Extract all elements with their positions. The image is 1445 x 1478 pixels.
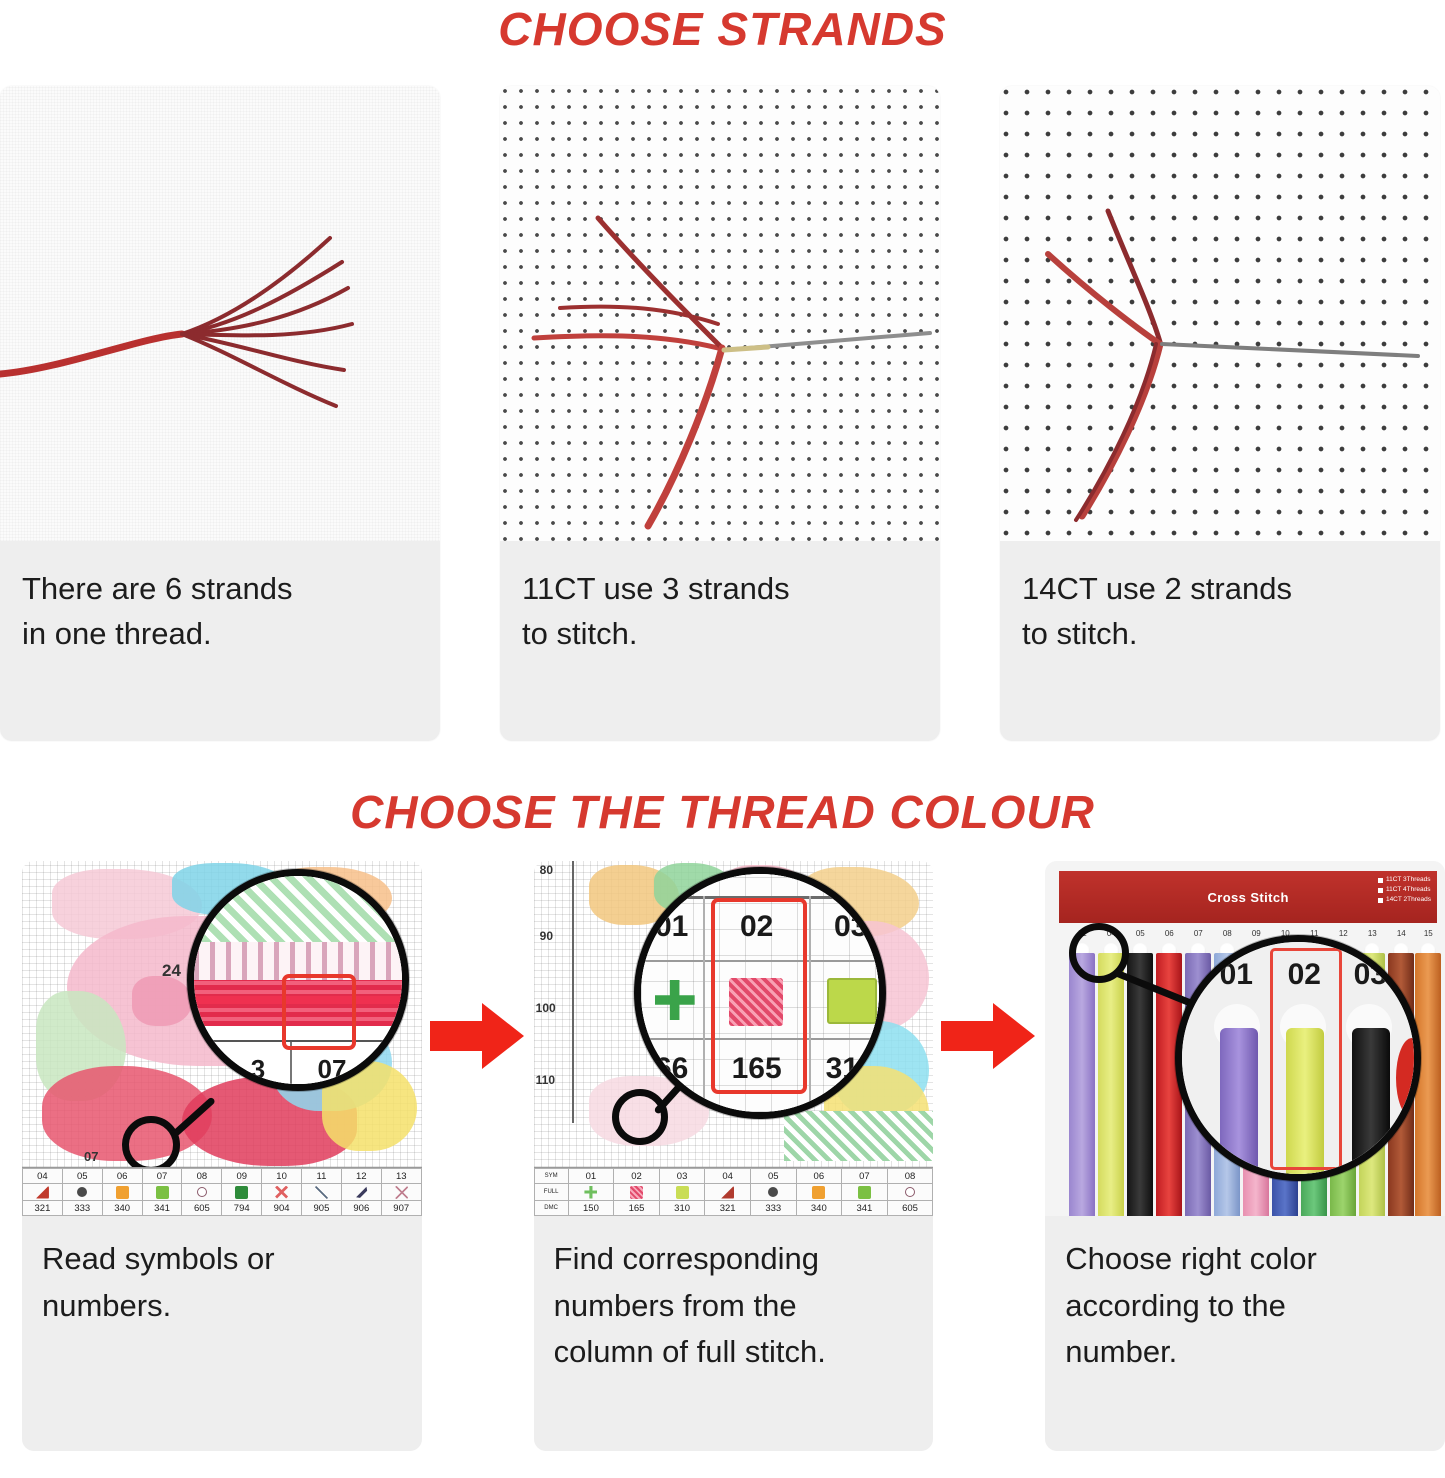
- organizer-thread-options: 11CT 3Threads 11CT 4Threads 14CT 2Thread…: [1378, 875, 1431, 905]
- zoom-column-number: 01: [641, 910, 703, 944]
- legend-code: 321: [23, 1201, 63, 1216]
- arrow-card1-to-card2: [422, 861, 534, 1451]
- legend-symbol-cell: [102, 1184, 142, 1201]
- legend-code: 340: [102, 1201, 142, 1216]
- caption-line: 14CT use 2 strands: [1022, 567, 1418, 612]
- symbol-arc-pink: [395, 1186, 408, 1199]
- legend-code-row: DMC 150 165 310 321 333 340 341 605: [534, 1201, 933, 1216]
- checkbox-icon[interactable]: [1378, 878, 1383, 883]
- organizer-title: Cross Stitch: [1207, 890, 1288, 905]
- legend-code: 906: [341, 1201, 381, 1216]
- legend-header-row: SYM 01 02 03 04 05 06 07 08: [534, 1169, 933, 1184]
- card-choose-colour: Cross Stitch 11CT 3Threads 11CT 4Threads…: [1045, 861, 1445, 1451]
- legend-symbol-cell: [842, 1184, 888, 1201]
- legend-code: 341: [842, 1201, 888, 1216]
- legend-col-number: 13: [381, 1169, 421, 1184]
- legend-code: 905: [302, 1201, 342, 1216]
- legend-symbol-cell: [796, 1184, 842, 1201]
- skein-number: 06: [1158, 929, 1180, 938]
- caption-line: numbers from the: [554, 1283, 914, 1330]
- zoom-thread-number: 01: [1204, 958, 1268, 992]
- skein-number: 14: [1390, 929, 1412, 938]
- legend-col-number: 10: [262, 1169, 302, 1184]
- zoom-thread-number: 03: [1338, 958, 1402, 992]
- two-strand-needle-illustration: [1000, 86, 1440, 541]
- symbol-dot-dark: [77, 1187, 87, 1197]
- skein-number: 09: [1245, 929, 1267, 938]
- symbol-legend-table-2: SYM 01 02 03 04 05 06 07 08 FULL: [534, 1167, 934, 1216]
- right-arrow-icon: [941, 1001, 1037, 1071]
- row-label: 110: [536, 1073, 555, 1087]
- legend-col-number: 03: [659, 1169, 705, 1184]
- colour-card-row: 24 07 3: [0, 861, 1445, 1451]
- legend-col-number: 07: [142, 1169, 182, 1184]
- symbol-leaf-dark: [355, 1186, 368, 1199]
- legend-code: 794: [222, 1201, 262, 1216]
- legend-symbol-cell: [381, 1184, 421, 1201]
- legend-col-number: 11: [302, 1169, 342, 1184]
- organizer-option-label: 11CT 3Threads: [1386, 875, 1431, 885]
- legend-code: 150: [568, 1201, 614, 1216]
- zoom-code-number: 310: [811, 1052, 886, 1086]
- card-14ct-two-strands: 14CT use 2 strands to stitch.: [1000, 86, 1440, 741]
- organizer-option-label: 14CT 2Threads: [1386, 895, 1431, 905]
- thread-skein: [1098, 953, 1124, 1216]
- page-title-choose-strands: CHOOSE STRANDS: [0, 0, 1445, 52]
- skein-number: 07: [1187, 929, 1209, 938]
- page-title-choose-thread-colour: CHOOSE THE THREAD COLOUR: [0, 779, 1445, 835]
- zoom-thread-skein: [1352, 1028, 1390, 1181]
- photo-11ct-aida-needle: [500, 86, 940, 541]
- right-arrow-icon: [430, 1001, 526, 1071]
- caption-line: Read symbols or: [42, 1236, 402, 1283]
- zoom-cell-number: 07: [302, 1054, 362, 1085]
- legend-col-number: 01: [568, 1169, 614, 1184]
- legend-col-number: 08: [887, 1169, 933, 1184]
- organizer-option-label: 11CT 4Threads: [1386, 885, 1431, 895]
- zoom-stitch-green: [194, 876, 402, 952]
- legend-row-title: SYM: [534, 1169, 568, 1184]
- magnifier-circle-symbols: 3 07: [187, 869, 409, 1091]
- caption-line: to stitch.: [522, 612, 918, 657]
- legend-symbol-cell: [659, 1184, 705, 1201]
- strands-card-row: There are 6 strands in one thread. 11CT …: [0, 86, 1445, 741]
- caption-line: There are 6 strands: [22, 567, 418, 612]
- legend-symbol-cell: [614, 1184, 660, 1201]
- magnifier-circle-threads: 01 02 03: [1175, 935, 1421, 1181]
- zoom-code-number: 66: [641, 1052, 703, 1086]
- checkbox-icon[interactable]: [1378, 898, 1383, 903]
- legend-symbol-cell: [222, 1184, 262, 1201]
- checkbox-icon[interactable]: [1378, 888, 1383, 893]
- legend-code-row: 321 333 340 341 605 794 904 905 906 907: [23, 1201, 422, 1216]
- symbol-square-darkgreen: [235, 1186, 248, 1199]
- caption-line: numbers.: [42, 1283, 402, 1330]
- legend-code: 605: [887, 1201, 933, 1216]
- legend-code: 165: [614, 1201, 660, 1216]
- card-six-strands: There are 6 strands in one thread.: [0, 86, 440, 741]
- legend-symbol-cell: [262, 1184, 302, 1201]
- symbol-square-orange: [116, 1186, 129, 1199]
- skein-number: 05: [1129, 929, 1151, 938]
- skein-number: 13: [1361, 929, 1383, 938]
- symbol-lime-square: [676, 1186, 689, 1199]
- photo-14ct-aida-needle: [1000, 86, 1440, 541]
- infographic-page: CHOOSE STRANDS There are 6 strands in on…: [0, 0, 1445, 1478]
- legend-symbol-cell: [23, 1184, 63, 1201]
- legend-col-number: 09: [222, 1169, 262, 1184]
- symbol-square-green: [858, 1186, 871, 1199]
- symbol-triangle-red: [721, 1186, 734, 1199]
- legend-col-number: 04: [705, 1169, 751, 1184]
- caption-six-strands: There are 6 strands in one thread.: [0, 541, 440, 657]
- legend-symbol-row: FULL: [534, 1184, 933, 1201]
- pattern-hatch: [784, 1111, 934, 1161]
- caption-find-numbers: Find corresponding numbers from the colu…: [534, 1216, 934, 1376]
- legend-col-number: 04: [23, 1169, 63, 1184]
- symbol-circle-open: [197, 1187, 207, 1197]
- caption-11ct: 11CT use 3 strands to stitch.: [500, 541, 940, 657]
- legend-code: 333: [62, 1201, 102, 1216]
- three-strand-needle-illustration: [500, 86, 940, 541]
- zoom-column-number: 03: [811, 910, 886, 944]
- zoom-symbol-lime-square: [827, 978, 877, 1024]
- legend-row-title: DMC: [534, 1201, 568, 1216]
- legend-symbol-cell: [750, 1184, 796, 1201]
- symbol-red-square: [630, 1186, 643, 1199]
- highlight-box: [1270, 948, 1342, 1170]
- caption-line: number.: [1065, 1329, 1425, 1376]
- symbol-square-green: [156, 1186, 169, 1199]
- row-label: 90: [540, 929, 553, 943]
- caption-line: in one thread.: [22, 612, 418, 657]
- thread-organizer-image: Cross Stitch 11CT 3Threads 11CT 4Threads…: [1045, 861, 1445, 1216]
- legend-row-title: FULL: [534, 1184, 568, 1201]
- skein-number: 12: [1332, 929, 1354, 938]
- zoom-thread-skein: [1220, 1028, 1258, 1181]
- legend-code: 321: [705, 1201, 751, 1216]
- pattern-chart-image-2: 80 90 100 110: [534, 861, 934, 1216]
- thread-skein: [1069, 953, 1095, 1216]
- chart-column-label: 07: [84, 1149, 98, 1164]
- legend-col-number: 05: [750, 1169, 796, 1184]
- legend-col-number: 05: [62, 1169, 102, 1184]
- pattern-blob: [132, 976, 192, 1026]
- legend-symbol-cell: [182, 1184, 222, 1201]
- legend-col-number: 06: [102, 1169, 142, 1184]
- legend-symbol-cell: [568, 1184, 614, 1201]
- caption-14ct: 14CT use 2 strands to stitch.: [1000, 541, 1440, 657]
- six-strand-thread-illustration: [0, 86, 440, 541]
- legend-col-number: 12: [341, 1169, 381, 1184]
- symbol-green-cross: [584, 1186, 597, 1199]
- legend-symbol-cell: [62, 1184, 102, 1201]
- legend-col-number: 08: [182, 1169, 222, 1184]
- legend-code: 340: [796, 1201, 842, 1216]
- legend-code: 904: [262, 1201, 302, 1216]
- symbol-dot-dark: [768, 1187, 778, 1197]
- legend-col-number: 02: [614, 1169, 660, 1184]
- organizer-option[interactable]: 14CT 2Threads: [1378, 895, 1431, 905]
- symbol-slash-line: [315, 1186, 328, 1199]
- caption-line: Find corresponding: [554, 1236, 914, 1283]
- legend-symbol-row: [23, 1184, 422, 1201]
- symbol-triangle-red: [36, 1186, 49, 1199]
- organizer-option[interactable]: 11CT 4Threads: [1378, 885, 1431, 895]
- arrow-card2-to-card3: [933, 861, 1045, 1451]
- legend-code: 310: [659, 1201, 705, 1216]
- legend-symbol-cell: [142, 1184, 182, 1201]
- caption-choose-colour: Choose right color according to the numb…: [1045, 1216, 1445, 1376]
- caption-line: according to the: [1065, 1283, 1425, 1330]
- thread-skein: [1415, 953, 1441, 1216]
- caption-line: 11CT use 3 strands: [522, 567, 918, 612]
- legend-symbol-cell: [887, 1184, 933, 1201]
- magnifier-focus-ring: [122, 1116, 180, 1174]
- caption-read-symbols: Read symbols or numbers.: [22, 1216, 422, 1329]
- zoom-cell-number: 3: [234, 1054, 282, 1085]
- legend-code: 341: [142, 1201, 182, 1216]
- skein-number: 08: [1216, 929, 1238, 938]
- card-11ct-three-strands: 11CT use 3 strands to stitch.: [500, 86, 940, 741]
- caption-line: Choose right color: [1065, 1236, 1425, 1283]
- row-label: 100: [536, 1001, 556, 1015]
- thread-skein: [1127, 953, 1153, 1216]
- symbol-square-orange: [812, 1186, 825, 1199]
- legend-symbol-cell: [705, 1184, 751, 1201]
- legend-code: 605: [182, 1201, 222, 1216]
- chart-axis-line: [572, 861, 574, 1123]
- row-label: 80: [540, 863, 553, 877]
- caption-line: column of full stitch.: [554, 1329, 914, 1376]
- legend-code: 333: [750, 1201, 796, 1216]
- caption-line: to stitch.: [1022, 612, 1418, 657]
- pattern-chart-image-1: 24 07 3: [22, 861, 422, 1216]
- magnifier-circle-numbers: 01 02 03 66 165 310: [634, 867, 886, 1119]
- legend-col-number: 06: [796, 1169, 842, 1184]
- legend-symbol-cell: [302, 1184, 342, 1201]
- symbol-circle-open: [905, 1187, 915, 1197]
- card-read-symbols: 24 07 3: [22, 861, 422, 1451]
- chart-cell-label: 24: [162, 961, 181, 981]
- symbol-legend-table-1: 04 05 06 07 08 09 10 11 12 13: [22, 1167, 422, 1216]
- legend-col-number: 07: [842, 1169, 888, 1184]
- highlight-box: [711, 898, 807, 1094]
- highlight-box: [282, 974, 356, 1050]
- photo-six-strands: [0, 86, 440, 541]
- legend-code: 907: [381, 1201, 421, 1216]
- skein-number: 15: [1417, 929, 1439, 938]
- symbol-cross-red: [275, 1186, 288, 1199]
- organizer-option[interactable]: 11CT 3Threads: [1378, 875, 1431, 885]
- card-find-numbers: 80 90 100 110: [534, 861, 934, 1451]
- legend-header-row: 04 05 06 07 08 09 10 11 12 13: [23, 1169, 422, 1184]
- legend-symbol-cell: [341, 1184, 381, 1201]
